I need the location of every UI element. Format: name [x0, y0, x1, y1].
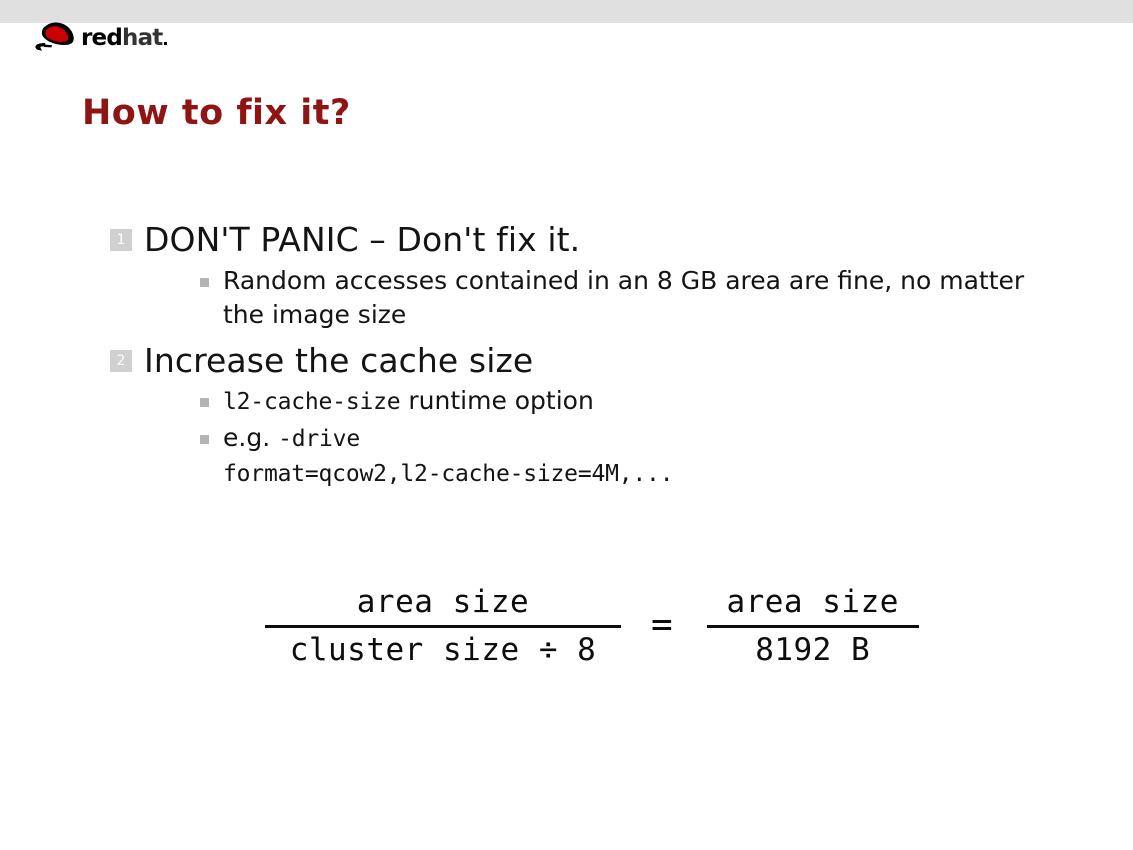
sub-text-2-1-plain: runtime option [400, 386, 593, 415]
header-bar [0, 0, 1133, 23]
slide-title: How to fix it? [82, 93, 351, 133]
redhat-wordmark: redhat [81, 27, 167, 50]
sub-item-2-2: e.g. -driveformat=qcow2,l2-cache-size=4M… [200, 421, 1110, 490]
code-drive-flag: -drive [278, 426, 360, 452]
sub-text-1-1: Random accesses contained in an 8 GB are… [223, 264, 1053, 333]
wordmark-red: red [81, 25, 122, 51]
fraction-left-bar [265, 625, 621, 628]
fraction-right-denominator: 8192 B [749, 630, 876, 670]
enumerated-item-2: 2 Increase the cache size [110, 339, 1110, 383]
enum-badge-1: 1 [110, 229, 132, 251]
code-drive-args: format=qcow2,l2-cache-size=4M,... [223, 461, 673, 487]
sub-item-2-1: l2-cache-size runtime option [200, 384, 1110, 419]
fraction-right: area size 8192 B [707, 582, 919, 671]
fraction-left-numerator: area size [351, 582, 535, 622]
cache-size-formula: area size cluster size ÷ 8 = area size 8… [265, 582, 919, 671]
square-bullet-icon [200, 278, 209, 287]
sub-list-1: Random accesses contained in an 8 GB are… [200, 264, 1110, 333]
code-l2-cache-size: l2-cache-size [223, 389, 400, 415]
redhat-shadowman-icon [34, 22, 80, 52]
enumerated-item-1: 1 DON'T PANIC – Don't fix it. [110, 218, 1110, 262]
fraction-right-numerator: area size [720, 582, 904, 622]
square-bullet-icon [200, 398, 209, 407]
sub-item-1-1: Random accesses contained in an 8 GB are… [200, 264, 1110, 333]
redhat-logo: redhat [34, 20, 167, 54]
equals-sign: = [651, 604, 673, 645]
enum-text-2: Increase the cache size [144, 339, 533, 383]
fraction-left-denominator: cluster size ÷ 8 [284, 630, 603, 670]
slide-body: 1 DON'T PANIC – Don't fix it. Random acc… [110, 218, 1110, 496]
sub-text-2-2-plain: e.g. [223, 423, 278, 452]
enum-text-1: DON'T PANIC – Don't fix it. [144, 218, 580, 262]
sub-text-2-2: e.g. -driveformat=qcow2,l2-cache-size=4M… [223, 421, 673, 490]
square-bullet-icon [200, 435, 209, 444]
wordmark-dot [164, 42, 167, 45]
enum-badge-2: 2 [110, 350, 132, 372]
sub-text-2-1: l2-cache-size runtime option [223, 384, 594, 419]
fraction-left: area size cluster size ÷ 8 [265, 582, 621, 671]
fraction-right-bar [707, 625, 919, 628]
wordmark-hat: hat [122, 25, 163, 51]
sub-list-2: l2-cache-size runtime option e.g. -drive… [200, 384, 1110, 490]
